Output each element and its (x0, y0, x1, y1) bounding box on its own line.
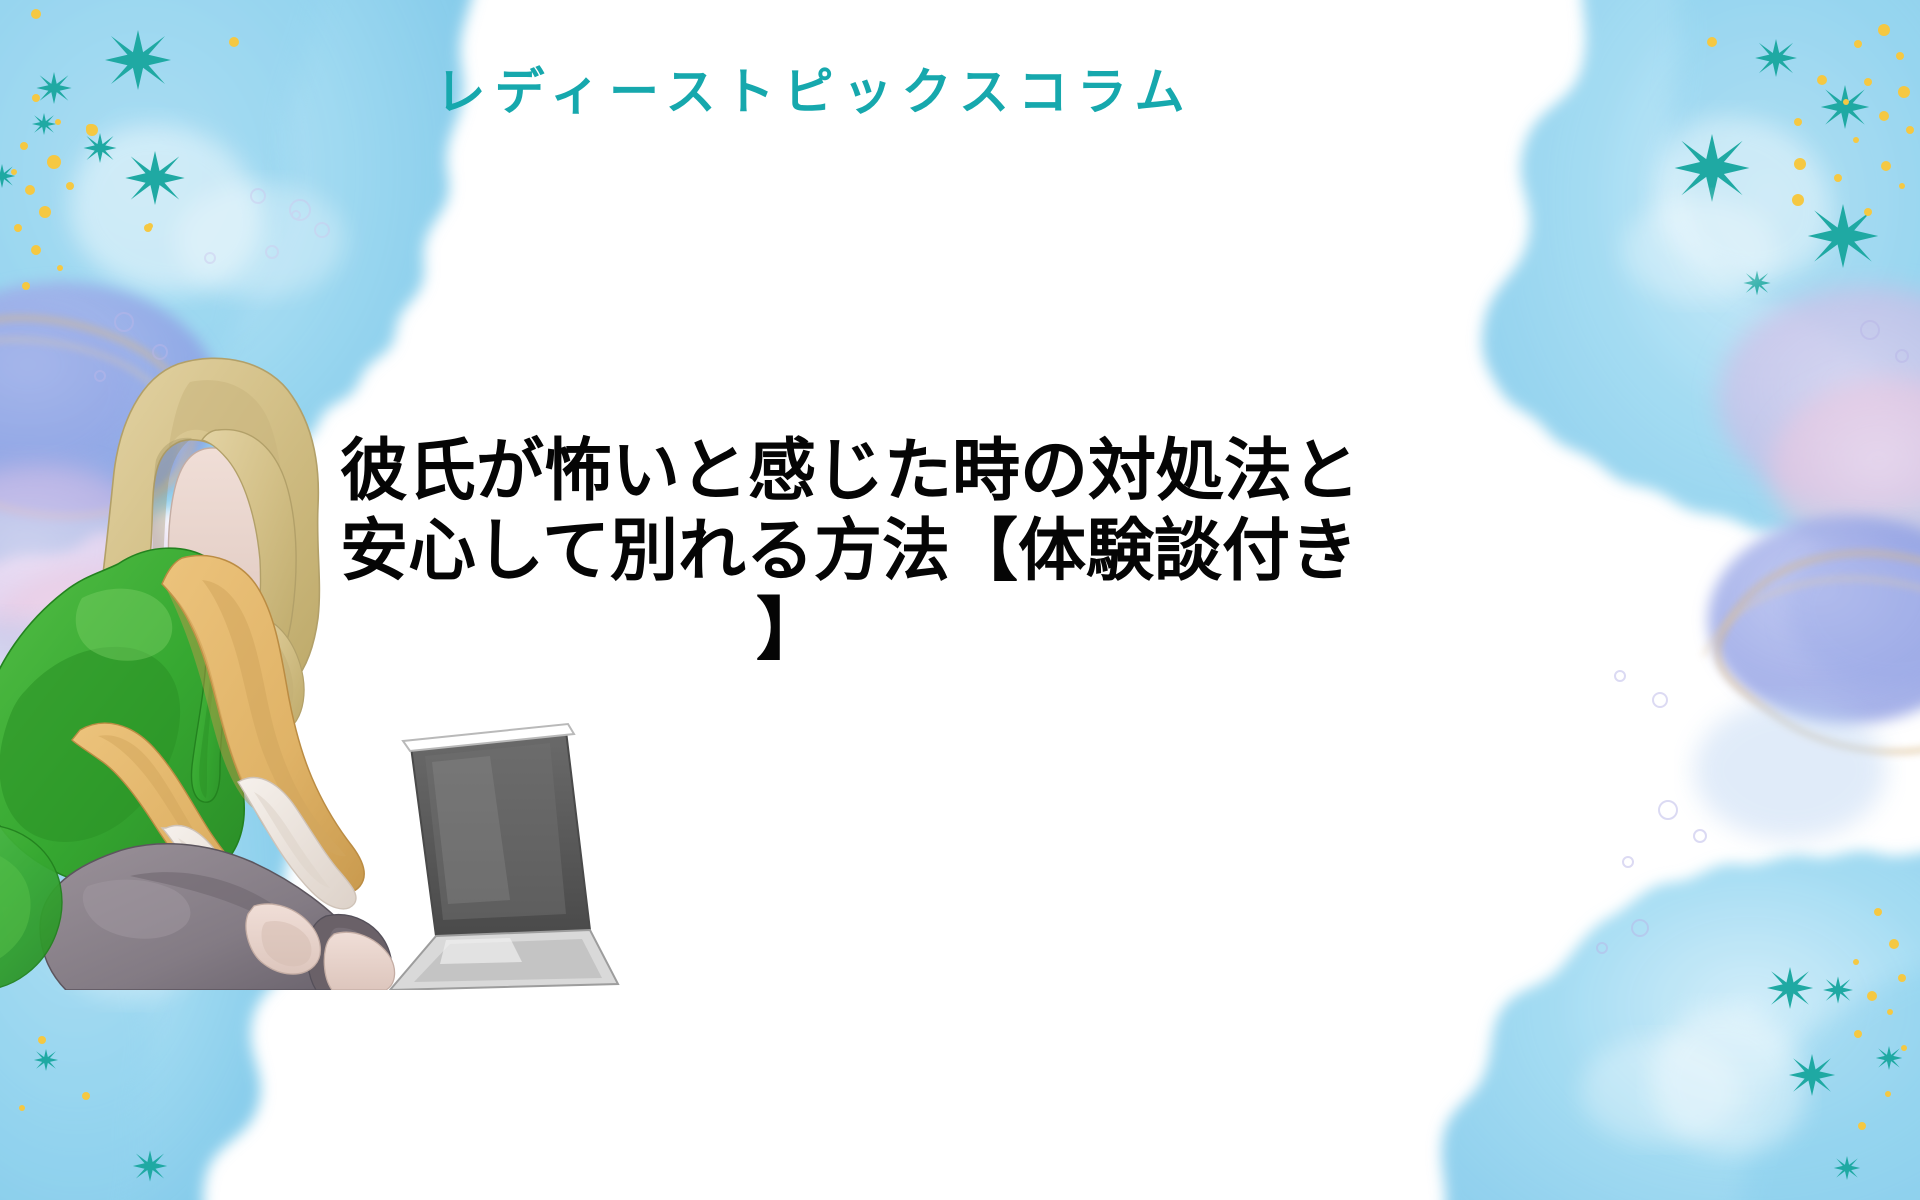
title-line-3: 】 (340, 591, 1240, 671)
eyecatch-canvas: レディーストピックスコラム 彼氏が怖いと感じた時の対処法と 安心して別れる方法【… (0, 0, 1920, 1200)
watercolor-bottom-right (1434, 850, 1920, 1200)
illustration-laptop (390, 724, 618, 990)
title-line-2: 安心して別れる方法【体験談付き (340, 512, 1240, 592)
page-title: 彼氏が怖いと感じた時の対処法と 安心して別れる方法【体験談付き 】 (340, 432, 1240, 671)
watercolor-right-periwinkle (1694, 286, 1920, 840)
header-category-label: レディーストピックスコラム (0, 62, 1770, 122)
title-line-1: 彼氏が怖いと感じた時の対処法と (340, 432, 1240, 512)
